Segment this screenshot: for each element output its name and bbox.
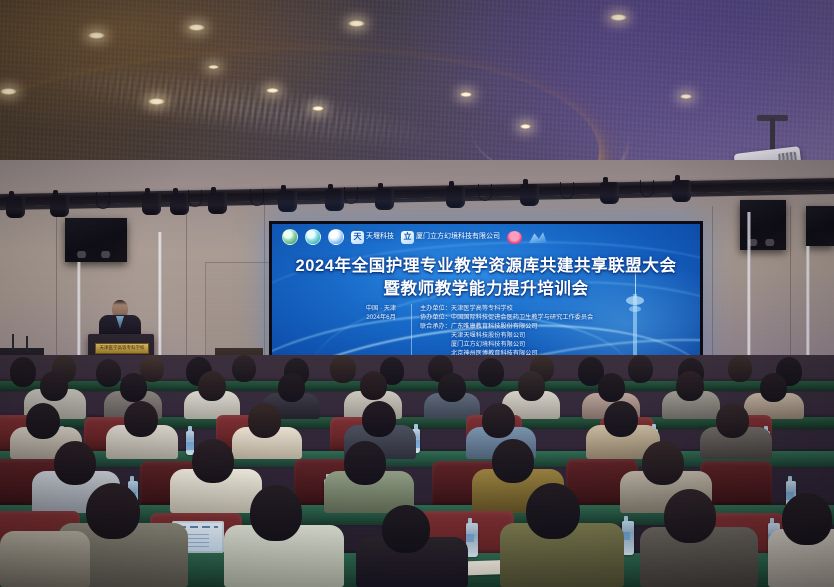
led-screen-frame — [269, 221, 703, 375]
par-light-11 — [600, 182, 619, 204]
audience-head — [728, 355, 752, 382]
lighting-cable-3 — [250, 189, 264, 206]
downlight-7 — [348, 20, 365, 27]
downlight-1 — [88, 32, 105, 39]
audience-head — [782, 493, 832, 545]
audience-head — [26, 403, 60, 439]
console-mic-1 — [12, 334, 14, 350]
bottle-label — [466, 534, 474, 542]
podium-nameplate-text: 天津医学高等专科学校 — [96, 344, 148, 351]
left-line-array-speaker — [65, 218, 127, 262]
lighting-cable-5 — [478, 184, 492, 201]
center-right-speaker — [806, 206, 834, 246]
audience-head — [10, 357, 36, 387]
audience-head — [360, 371, 387, 400]
audience-head — [518, 371, 545, 401]
audience-head — [362, 401, 396, 437]
audience-head — [382, 505, 430, 553]
audience-head — [124, 401, 158, 437]
audience-head — [330, 355, 356, 383]
par-light-6 — [278, 190, 297, 212]
console-mic-2 — [26, 336, 28, 350]
audience-head — [478, 358, 504, 387]
downlight-2 — [188, 24, 205, 31]
downlight-8 — [312, 106, 324, 111]
par-light-9 — [446, 186, 465, 208]
downlight-12 — [610, 14, 627, 21]
par-light-10 — [520, 184, 539, 206]
audience-head — [492, 439, 534, 483]
audience-shoulders — [0, 531, 90, 587]
downlight-10 — [520, 124, 531, 129]
audience-area — [0, 355, 834, 587]
downlight-4 — [0, 88, 17, 95]
lighting-cable-1 — [96, 192, 110, 209]
par-light-3 — [142, 193, 161, 215]
lighting-cable-4 — [344, 187, 358, 204]
downlight-6 — [266, 88, 279, 93]
audience-head — [526, 483, 580, 539]
podium-nameplate: 天津医学高等专科学校 — [95, 343, 149, 354]
projector-pole — [770, 118, 775, 152]
audience-head — [198, 371, 226, 401]
par-light-12 — [672, 180, 691, 202]
audience-head — [604, 401, 638, 437]
conference-hall-photo: 天 天堰科技 立 厦门立方幻境科技有限公司 2024年全国护理专业教学资源库共建… — [0, 0, 834, 587]
audience-head — [278, 373, 305, 402]
downlight-11 — [680, 94, 692, 99]
audience-head — [120, 373, 147, 402]
par-light-2 — [50, 195, 69, 217]
par-light-8 — [375, 188, 394, 210]
speaker-grill-icon — [72, 251, 119, 258]
par-light-1 — [6, 196, 25, 218]
audience-head — [760, 373, 787, 402]
lighting-cable-7 — [640, 180, 654, 197]
audience-head — [642, 441, 684, 485]
audience-head — [232, 355, 256, 382]
audience-head — [86, 483, 140, 539]
lighting-cable-2 — [188, 190, 202, 207]
audience-head — [676, 371, 704, 401]
audience-head — [54, 441, 96, 485]
downlight-5 — [208, 65, 219, 69]
audience-head — [96, 359, 121, 387]
audience-head — [344, 441, 386, 485]
audience-head — [40, 371, 68, 401]
par-light-4 — [170, 193, 189, 215]
bottle-label — [186, 442, 194, 450]
lighting-cable-6 — [560, 182, 574, 199]
downlight-9 — [460, 92, 472, 97]
audience-head — [192, 439, 234, 483]
par-light-5 — [208, 192, 227, 214]
audience-head — [664, 489, 716, 543]
audience-head — [482, 403, 515, 438]
audience-head — [438, 373, 466, 402]
audience-head — [628, 355, 653, 383]
audience-head — [598, 373, 625, 402]
audience-head — [716, 403, 749, 438]
audience-head — [250, 485, 302, 541]
audience-head — [248, 403, 281, 438]
par-light-7 — [325, 189, 344, 211]
downlight-3 — [148, 98, 165, 105]
